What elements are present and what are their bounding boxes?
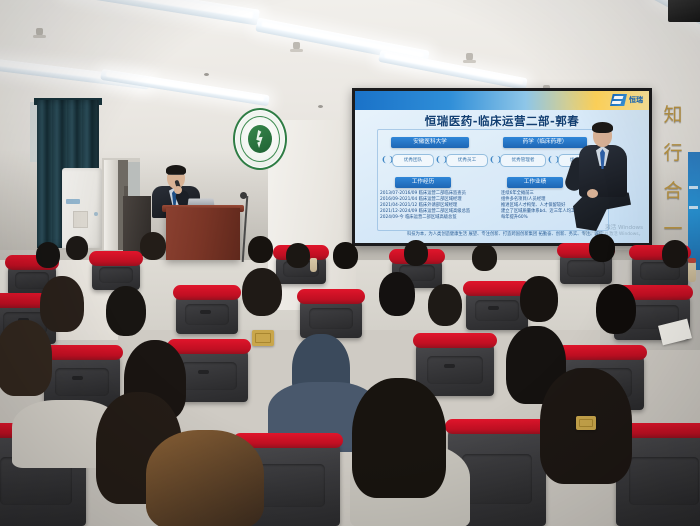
- bottle-cap: [688, 258, 696, 263]
- hengrui-logo-mark-icon: [610, 94, 627, 106]
- lecture-hall-photo: 知 行 合 一 恒瑞 恒瑞医药-临床运营二部-郭春 安徽医科大学 药学（临床药理…: [0, 0, 700, 526]
- ac-control-panel[interactable]: [73, 211, 88, 228]
- windows-activation-watermark: 激活 Windows 转到"设置"以激活 Windows。: [583, 223, 643, 237]
- laurel-icon: ❨❩: [435, 155, 444, 165]
- audience-head: [589, 234, 615, 262]
- open-door[interactable]: [104, 160, 118, 250]
- watermark-line-1: 激活 Windows: [583, 223, 643, 231]
- water-bottle[interactable]: [310, 258, 317, 272]
- sprinkler-icon: [293, 42, 300, 51]
- slide-badge-3: 优秀管理者: [500, 154, 546, 167]
- seat[interactable]: [300, 296, 362, 338]
- audience-head: [596, 284, 636, 334]
- water-bottle[interactable]: [688, 262, 696, 282]
- portrait-hair: [592, 122, 613, 133]
- slide-badge-1: 优秀团队: [392, 154, 434, 167]
- slide-pill-experience: 工作经历: [395, 177, 451, 188]
- slide-portrait-photo: [565, 119, 639, 235]
- audience-head: [248, 236, 273, 263]
- laurel-icon: ❨❩: [489, 155, 498, 165]
- ac-brand-label: [66, 199, 80, 204]
- banner-text-line: [689, 206, 698, 209]
- sprinkler-icon: [466, 53, 473, 62]
- speaker-hand: [174, 186, 182, 194]
- slide-experience-list: 2013/07-2016/09 临床运营二部临床监查员 2016/09-2021…: [380, 191, 470, 221]
- calligraphy-char-2: 行: [660, 134, 686, 172]
- ac-indicator-icon: [94, 212, 98, 216]
- air-conditioner: [62, 168, 102, 248]
- slide-badge-2: 优秀员工: [446, 154, 488, 167]
- audience-head: [146, 430, 264, 526]
- hengrui-logo: 恒瑞: [610, 93, 644, 107]
- calligraphy-char-3: 合: [660, 172, 686, 210]
- audience-head: [520, 276, 558, 322]
- audience-head: [662, 240, 688, 268]
- projection-screen-frame: 恒瑞 恒瑞医药-临床运营二部-郭春 安徽医科大学 药学（临床药理） ❨❩ 优秀团…: [352, 88, 652, 246]
- glasses-icon: [168, 174, 184, 179]
- audience-head: [472, 244, 497, 271]
- audience-head: [286, 243, 310, 268]
- slide-pill-university: 安徽医科大学: [391, 137, 469, 148]
- audience-head: [140, 232, 166, 260]
- emblem-core-icon: [248, 125, 272, 153]
- wall-speaker: [668, 0, 700, 22]
- audience-head: [66, 236, 88, 260]
- slide-pill-performance: 工作业绩: [507, 177, 563, 188]
- seat[interactable]: [92, 258, 140, 290]
- smoke-detector-icon: [204, 73, 209, 76]
- audience-head: [40, 276, 84, 332]
- seat-tab: [200, 310, 211, 314]
- projection-screen: 恒瑞 恒瑞医药-临床运营二部-郭春 安徽医科大学 药学（临床药理） ❨❩ 优秀团…: [355, 91, 649, 243]
- smoke-detector-icon: [318, 105, 323, 108]
- wall-calligraphy: 知 行 合 一: [660, 96, 686, 256]
- audience-head: [242, 268, 282, 316]
- podium: [166, 208, 240, 260]
- university-emblem: [233, 108, 287, 170]
- calligraphy-char-1: 知: [660, 96, 686, 134]
- seat-tab: [198, 370, 209, 374]
- hengrui-logo-text: 恒瑞: [629, 95, 643, 105]
- microphone-head-icon: [240, 192, 247, 199]
- banner-text-line: [689, 186, 698, 189]
- laurel-icon: ❨❩: [547, 155, 556, 165]
- audience-head: [404, 240, 428, 266]
- seat-tab: [488, 306, 499, 310]
- seat-tab: [444, 364, 455, 368]
- experience-line: 2024/09-今 临床运营二部区域高级总监: [380, 215, 470, 221]
- sprinkler-icon: [36, 28, 43, 37]
- audience-head: [428, 284, 462, 326]
- audience-head: [36, 242, 60, 268]
- watermark-line-2: 转到"设置"以激活 Windows。: [583, 231, 643, 237]
- slide-header-band: [355, 91, 649, 110]
- hair-clip: [252, 330, 274, 346]
- audience-head: [333, 242, 358, 269]
- audience-head: [379, 272, 415, 316]
- hair-clip: [576, 416, 596, 430]
- audience-head: [352, 378, 446, 498]
- audience-head: [106, 286, 146, 336]
- portrait-hand: [587, 189, 598, 198]
- seat-tab: [72, 376, 83, 380]
- laurel-icon: ❨❩: [381, 155, 390, 165]
- audience-head: [0, 320, 52, 396]
